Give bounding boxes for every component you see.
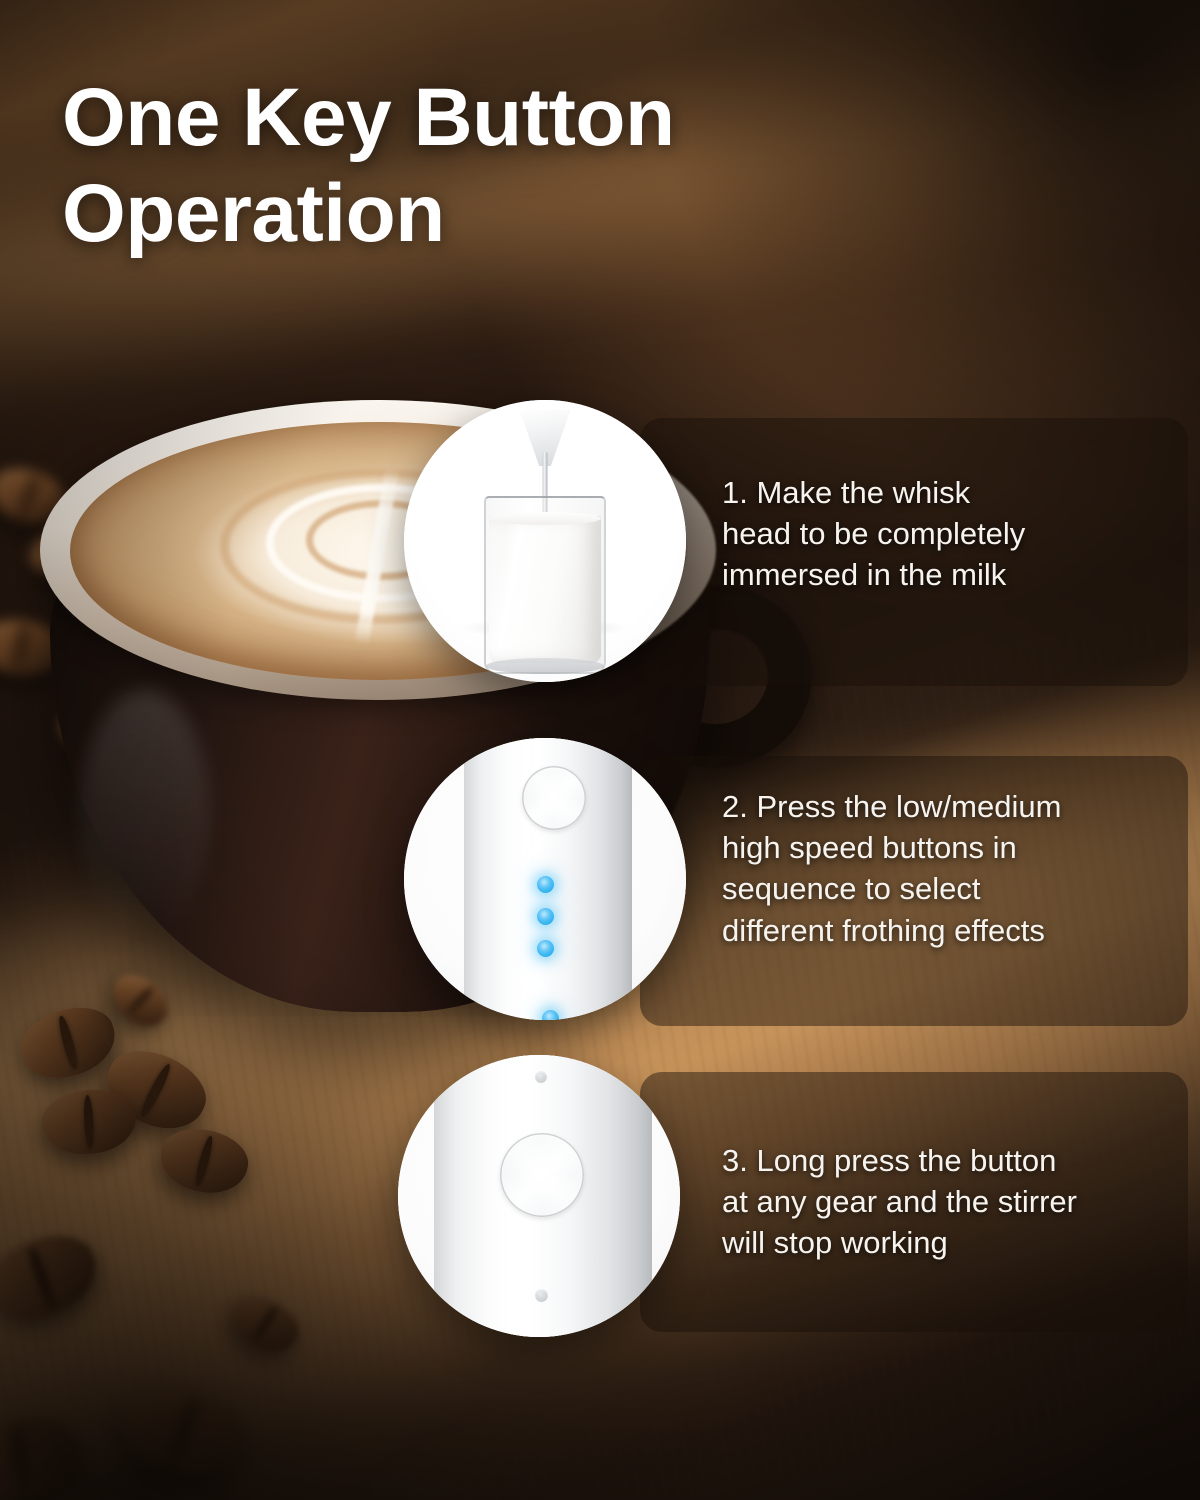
step-3-line-3: will stop working: [722, 1222, 1162, 1263]
step-3-line-2: at any gear and the stirrer: [722, 1181, 1162, 1222]
step-1-text: 1. Make the whisk head to be completely …: [722, 472, 1142, 596]
step-3-image: [398, 1055, 680, 1337]
page-title-line-1: One Key Button: [62, 72, 675, 163]
power-button-large[interactable]: [500, 1133, 584, 1217]
step-3-text: 3. Long press the button at any gear and…: [722, 1140, 1162, 1264]
glass-base: [486, 658, 604, 674]
infographic-canvas: One Key Button Operation 1. Make the whi…: [0, 0, 1200, 1500]
milk-glass: [484, 496, 606, 674]
page-title: One Key Button Operation: [62, 70, 882, 262]
led-indicator-high: [537, 940, 554, 957]
step-2-text: 2. Press the low/medium high speed butto…: [722, 786, 1152, 951]
step-2-line-4: different frothing effects: [722, 910, 1152, 951]
step-2-line-1: 2. Press the low/medium: [722, 786, 1152, 827]
step-1-line-1: 1. Make the whisk: [722, 472, 1142, 513]
step-1-line-3: immersed in the milk: [722, 554, 1142, 595]
led-indicator-low: [537, 876, 554, 893]
step-1-image: [404, 400, 686, 682]
page-title-line-2: Operation: [62, 168, 445, 259]
step-3-line-1: 3. Long press the button: [722, 1140, 1162, 1181]
step-2-line-3: sequence to select: [722, 868, 1152, 909]
milk-fill: [489, 516, 601, 663]
led-indicator-medium: [537, 908, 554, 925]
step-1-line-2: head to be completely: [722, 513, 1142, 554]
handle-bottom-dot: [535, 1289, 548, 1302]
step-2-image-leds: [404, 738, 686, 1020]
step-2-line-2: high speed buttons in: [722, 827, 1152, 868]
handle-top-dot: [535, 1071, 547, 1083]
milk-surface: [489, 512, 601, 525]
